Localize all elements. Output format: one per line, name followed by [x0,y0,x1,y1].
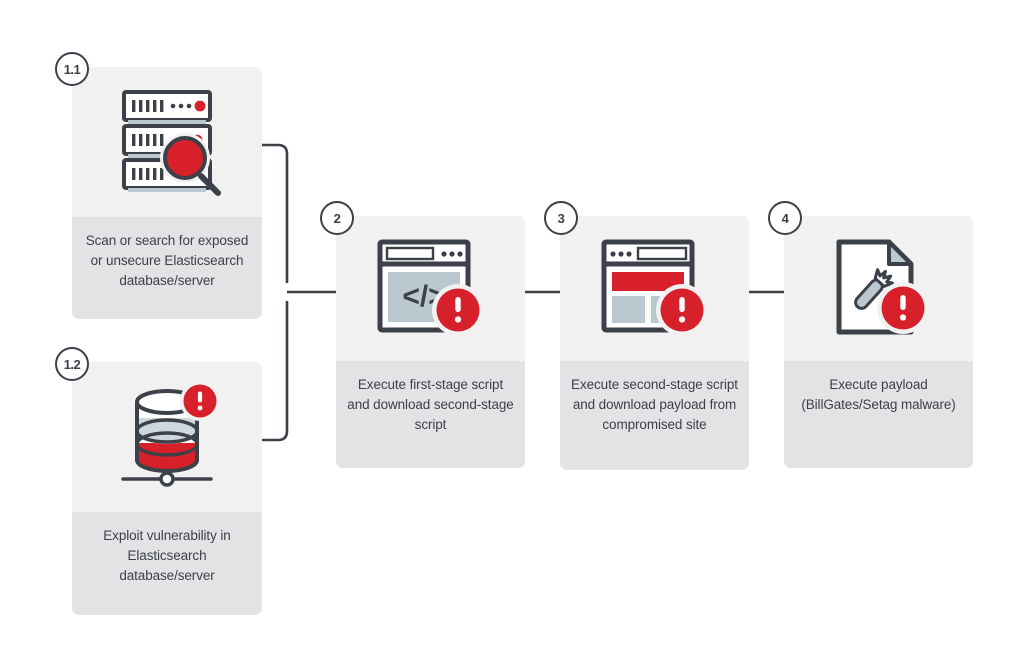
step-badge-3: 3 [544,201,578,235]
step-1-2-caption: Exploit vulnerability in Elasticsearch d… [72,512,262,615]
server-rack-search-icon [108,86,226,198]
step-card-2[interactable]: </> Execute first-stage script and downl… [336,216,525,468]
step-1-1-caption: Scan or search for exposed or unsecure E… [72,217,262,319]
step-4-icon-panel [784,216,973,361]
step-card-3[interactable]: Execute second-stage script and download… [560,216,749,470]
step-2-caption: Execute first-stage script and download … [336,361,525,468]
code-window-alert-icon: </> [372,234,490,344]
step-badge-4: 4 [768,201,802,235]
step-badge-2: 2 [320,201,354,235]
step-card-4[interactable]: Execute payload (BillGates/Setag malware… [784,216,973,468]
document-bomb-alert-icon [823,234,935,344]
step-badge-1-1: 1.1 [55,52,89,86]
step-3-caption: Execute second-stage script and download… [560,361,749,470]
step-3-icon-panel [560,216,749,361]
step-card-1-1[interactable]: Scan or search for exposed or unsecure E… [72,67,262,319]
step-4-caption: Execute payload (BillGates/Setag malware… [784,361,973,468]
step-card-1-2[interactable]: Exploit vulnerability in Elasticsearch d… [72,362,262,615]
step-1-1-icon-panel [72,67,262,217]
browser-window-alert-icon [596,234,714,344]
database-alert-icon [109,381,225,493]
attack-chain-diagram: 1.1 [0,0,1024,671]
step-2-icon-panel: </> [336,216,525,361]
step-1-2-icon-panel [72,362,262,512]
step-badge-1-2: 1.2 [55,347,89,381]
